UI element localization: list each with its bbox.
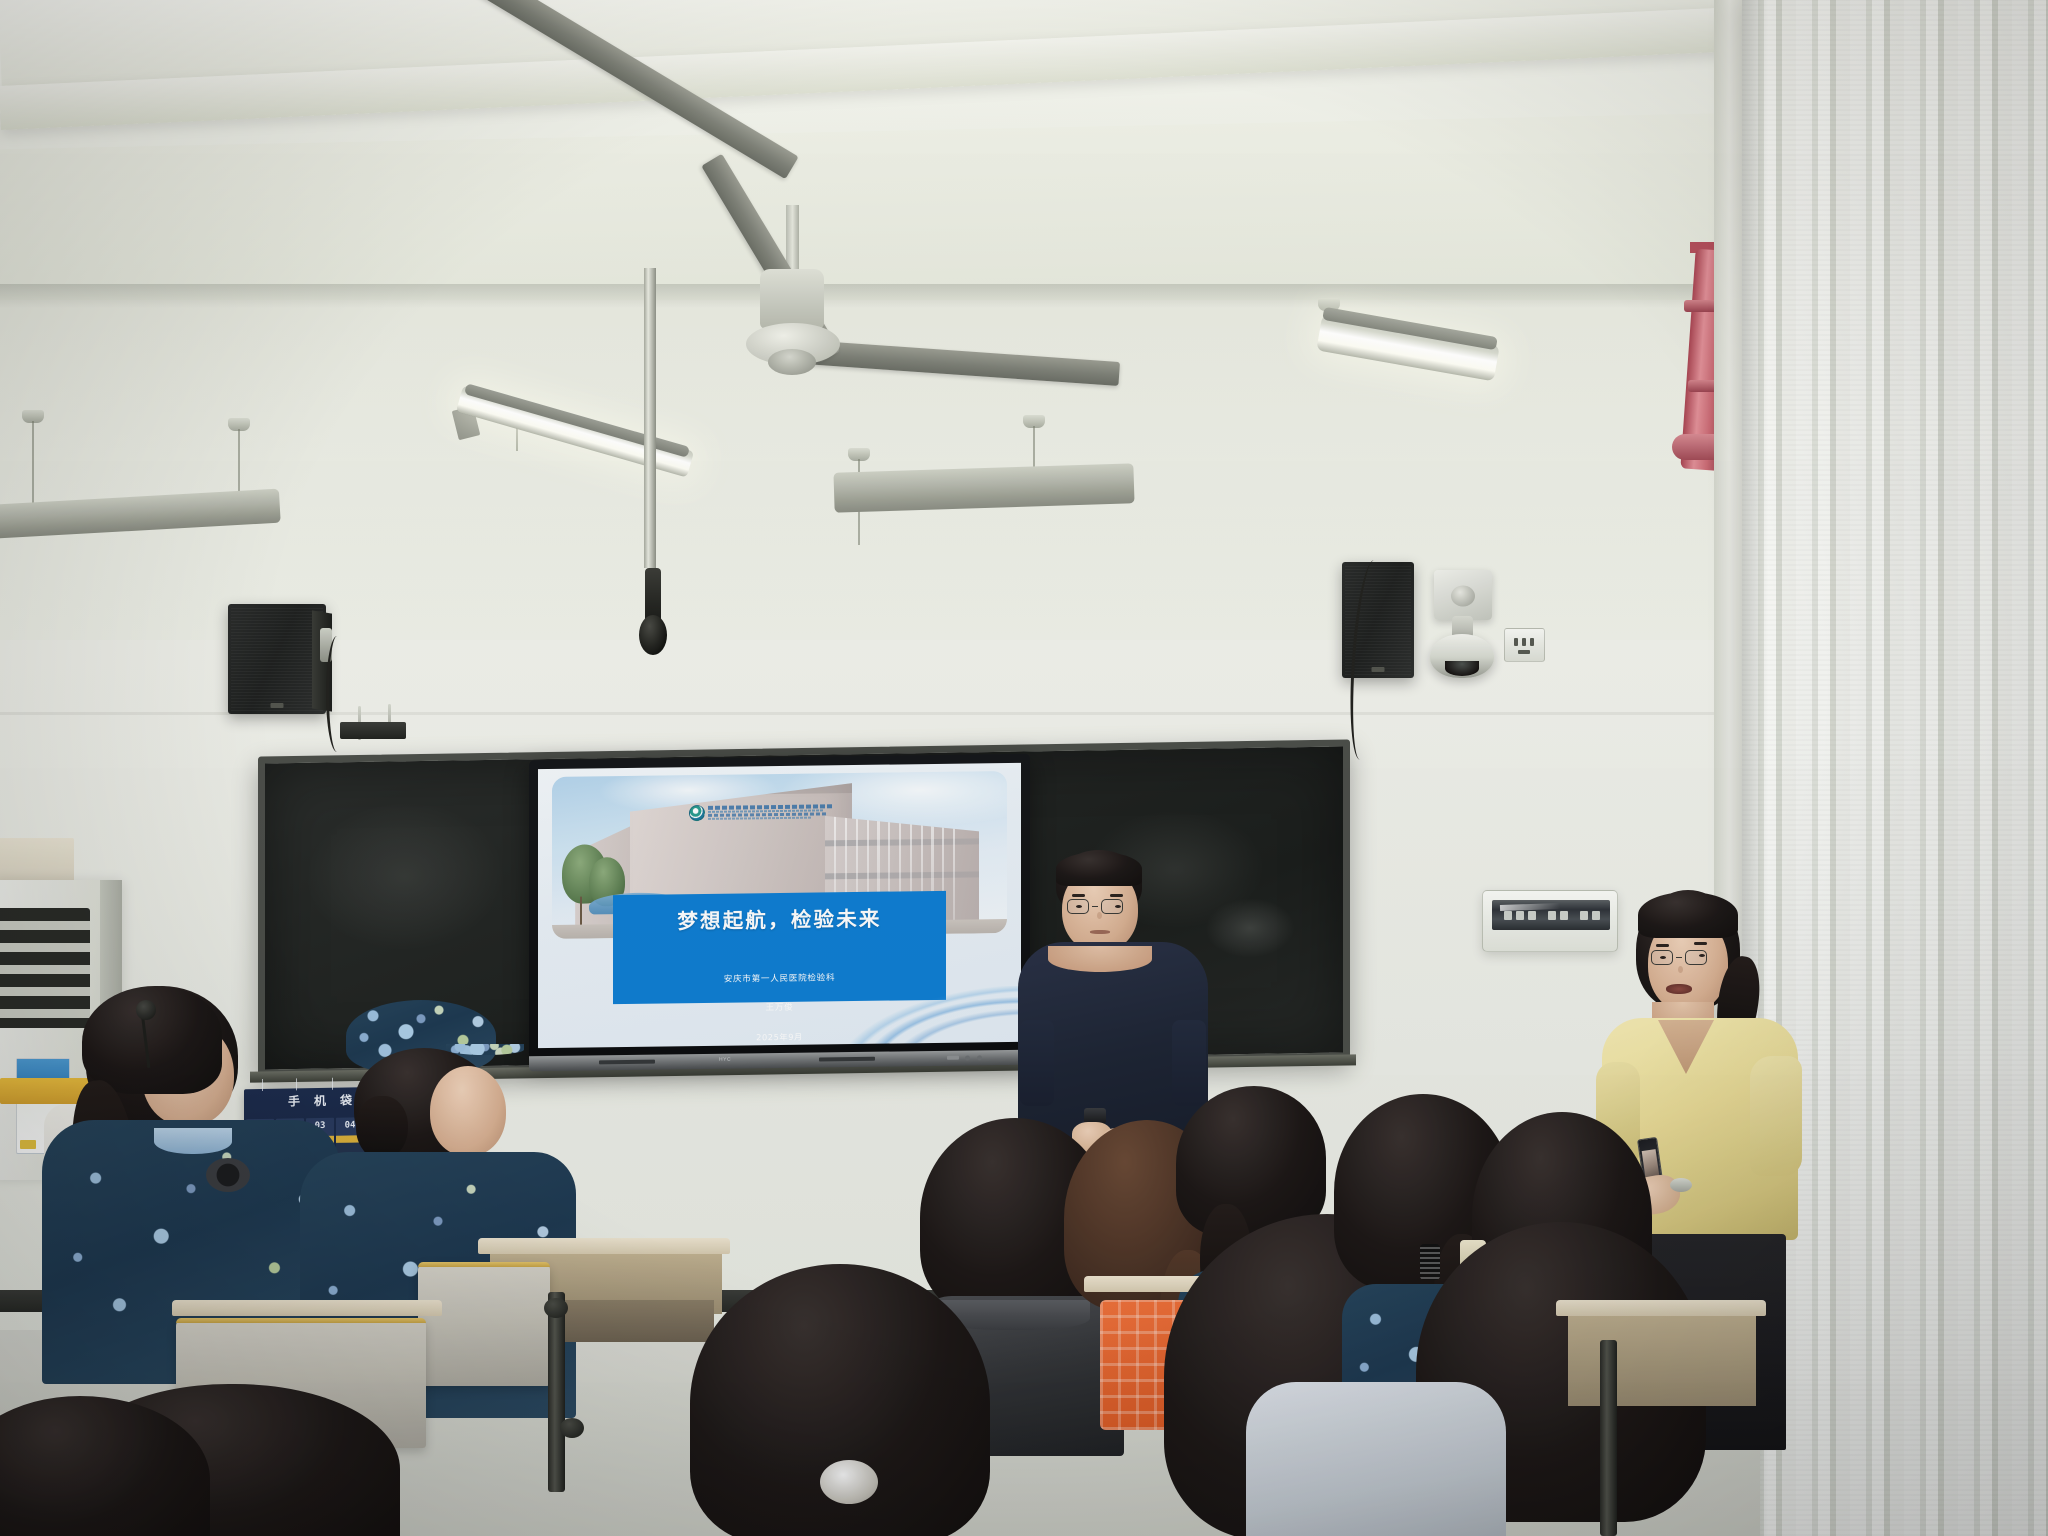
- student-top: [1246, 1382, 1506, 1536]
- hospital-logo-icon: [689, 801, 839, 824]
- neck: [1048, 946, 1152, 972]
- display-screen[interactable]: 梦想起航，检验未来 安庆市第一人民医院检验科 王万俊 2025年9月: [538, 763, 1021, 1048]
- interactive-whiteboard-display[interactable]: 梦想起航，检验未来 安庆市第一人民医院检验科 王万俊 2025年9月: [529, 754, 1030, 1061]
- hair-bun: [356, 1096, 408, 1160]
- wristwatch-icon: [1670, 1178, 1692, 1192]
- seat-knob: [560, 1418, 584, 1438]
- desk-top: [1556, 1300, 1766, 1316]
- pendant-wire: [32, 421, 34, 509]
- slide-presenter: 王万俊: [766, 1001, 794, 1013]
- ir-illuminator-icon: [1434, 570, 1492, 620]
- desk-under: [1568, 1316, 1756, 1406]
- hair-scrunchie: [820, 1460, 878, 1504]
- seat-knob: [544, 1298, 568, 1318]
- slide-title: 梦想起航，检验未来: [677, 908, 881, 931]
- presentation-slide: 梦想起航，检验未来 安庆市第一人民医院检验科 王万俊 2025年9月: [538, 763, 1021, 1048]
- student-light-tshirt: [1246, 1356, 1506, 1536]
- wall-cabinet: [0, 838, 74, 886]
- power-outlet-icon[interactable]: [1504, 628, 1545, 662]
- sleeve-right: [1750, 1056, 1802, 1176]
- slide-decorative-swoosh: [837, 986, 1021, 1048]
- lapel-microphone-icon: [136, 1000, 156, 1020]
- microphone-pole: [644, 268, 656, 568]
- wireless-mic-receiver: [340, 722, 406, 739]
- display-brand-label: HYC: [719, 1057, 731, 1063]
- student-foreground-center-left: [690, 1264, 990, 1536]
- hanging-microphone-icon: [639, 615, 667, 655]
- student-bottom-left: [0, 1396, 220, 1536]
- uniform-badge-icon: [206, 1158, 250, 1192]
- left-arm: [1020, 1020, 1054, 1106]
- ceiling-fan-icon: [560, 265, 1080, 435]
- seat-back: [418, 1262, 550, 1386]
- classroom-photo-scene: 梦想起航，检验未来 安庆市第一人民医院检验科 王万俊 2025年9月 HYC: [0, 0, 2048, 1536]
- slide-department: 安庆市第一人民医院检验科: [724, 971, 836, 984]
- desk-top: [478, 1238, 730, 1254]
- uniform-collar: [154, 1128, 232, 1154]
- ptz-dome-camera-icon: [1430, 634, 1494, 678]
- desk-top: [172, 1300, 442, 1316]
- camo-cap-brim: [446, 1044, 524, 1055]
- electrical-breaker-panel[interactable]: [1482, 890, 1618, 952]
- seat-post: [548, 1292, 565, 1492]
- slide-date: 2025年9月: [756, 1030, 803, 1043]
- seat-post: [1600, 1340, 1617, 1536]
